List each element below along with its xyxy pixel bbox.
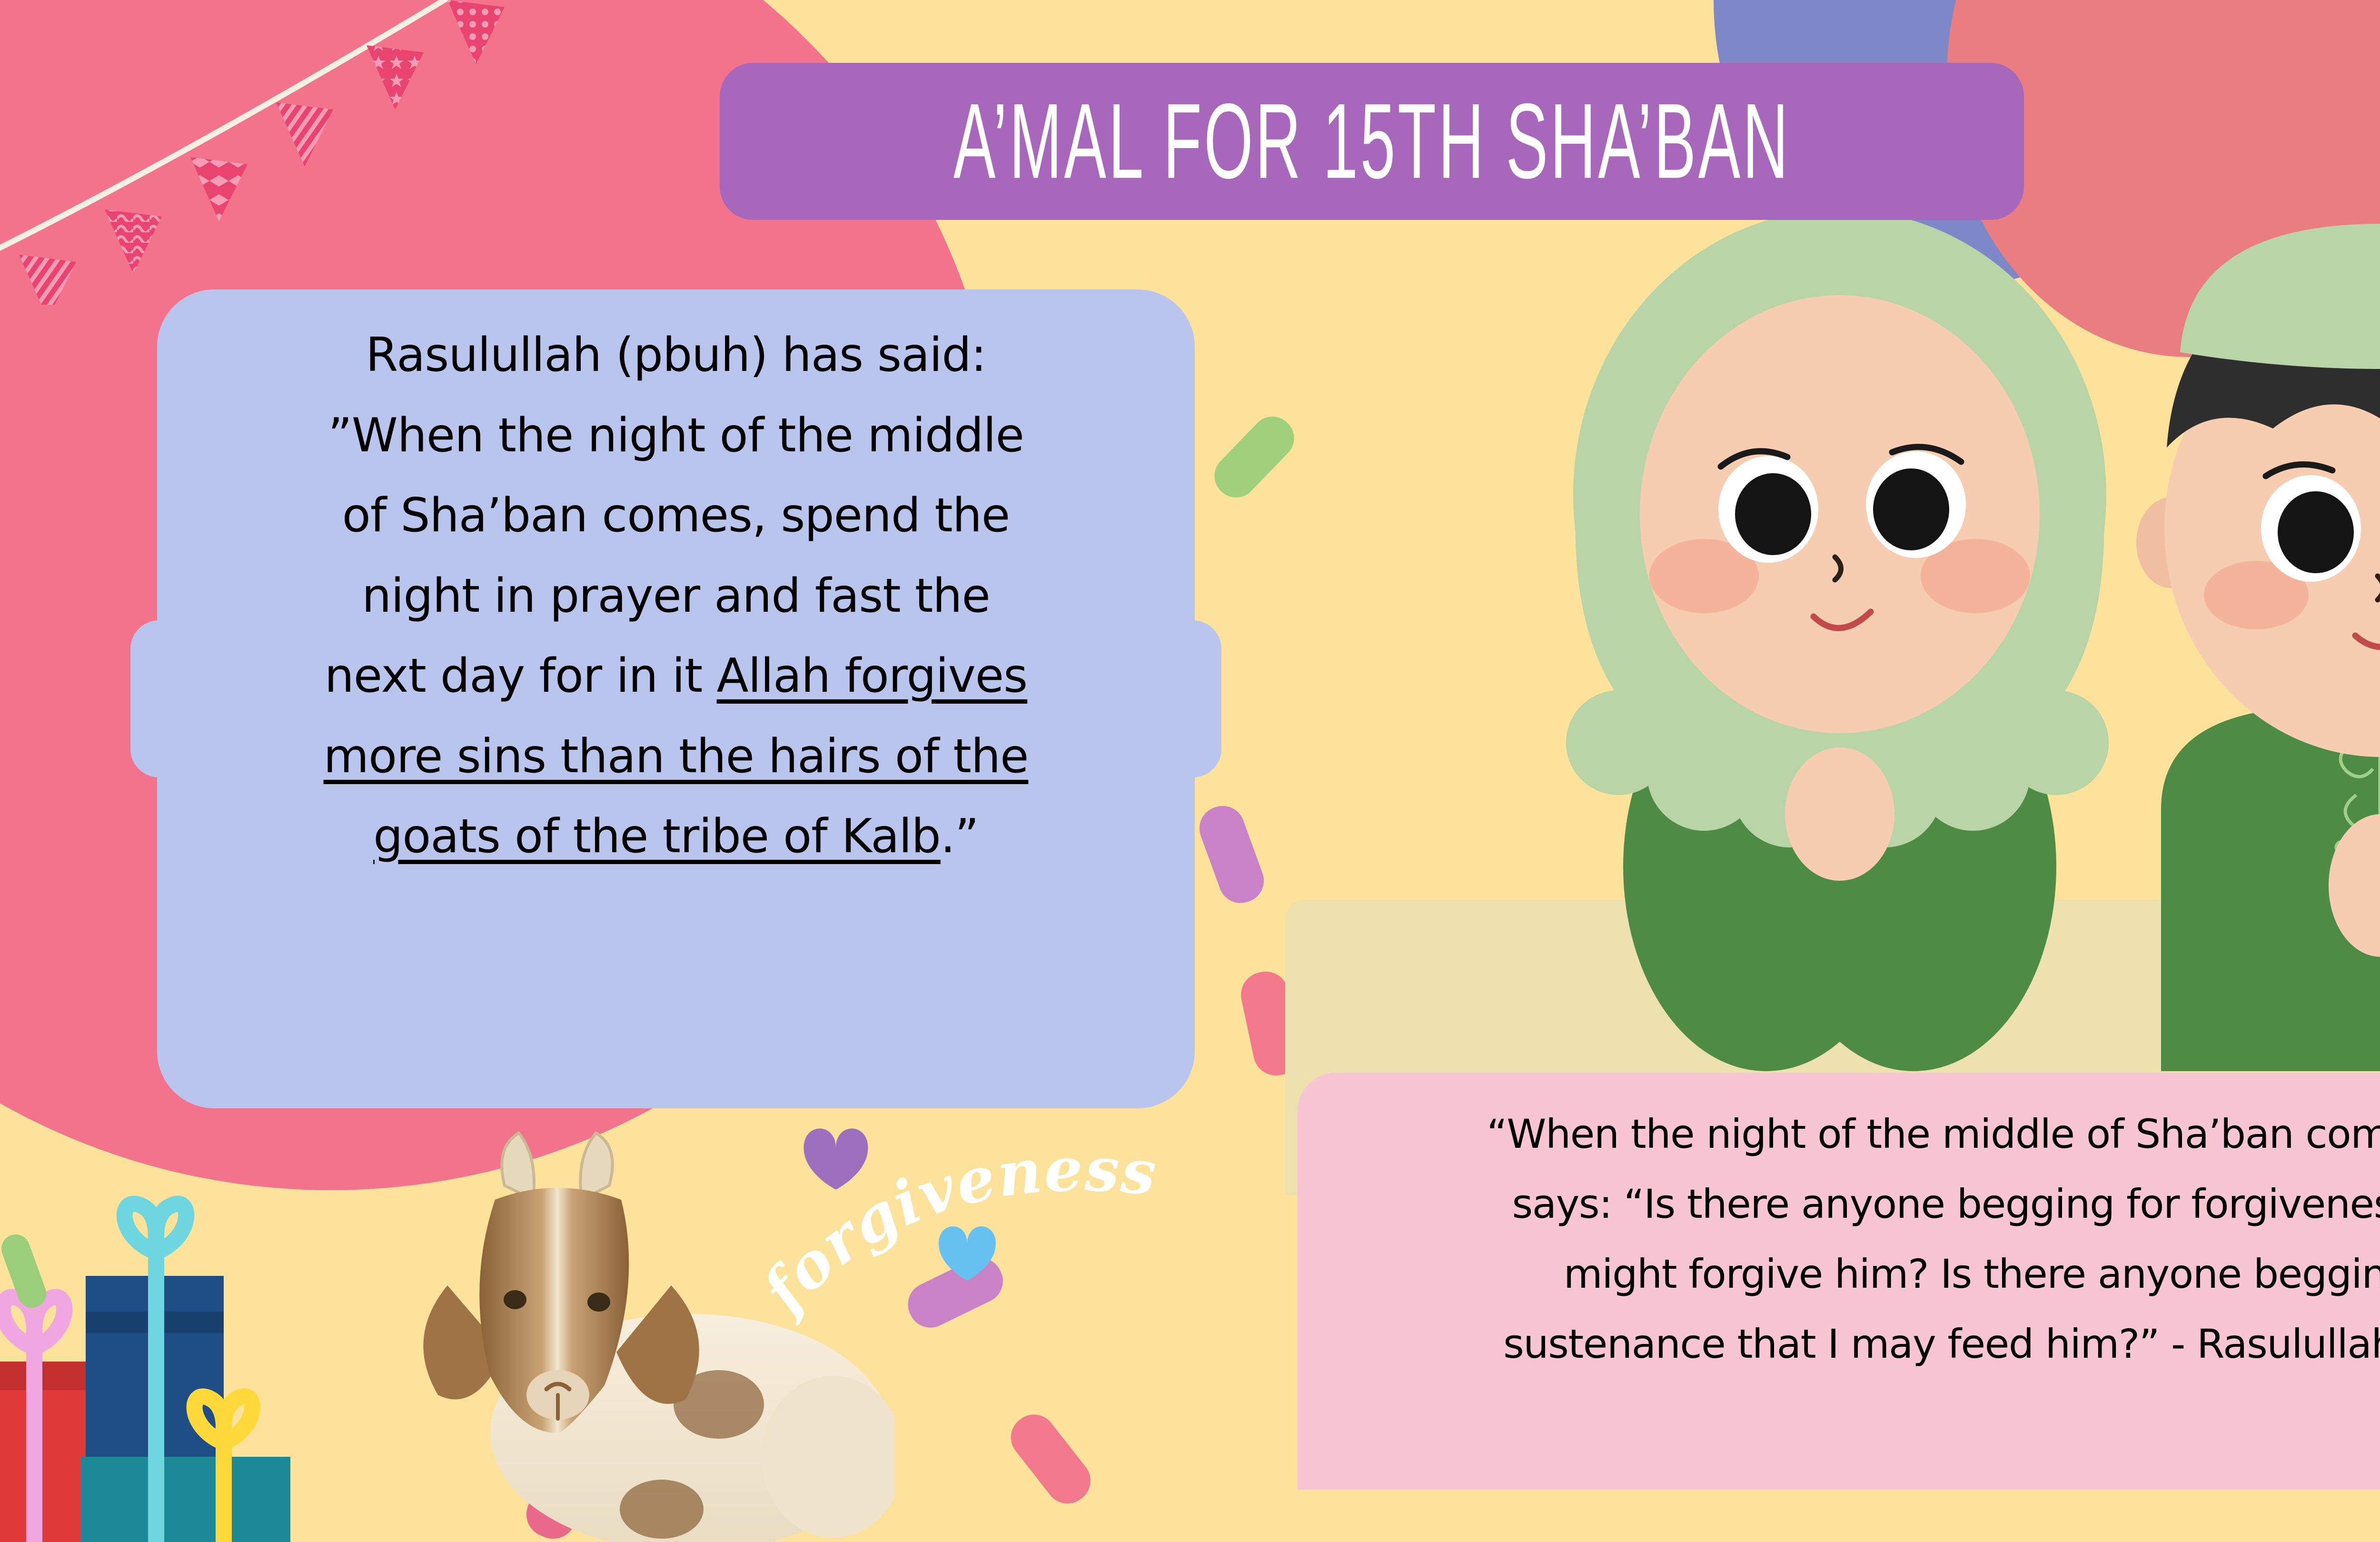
quote-text: “When the night of the middle of Sha’ban… <box>1332 1099 2380 1379</box>
hadith-text: Rasulullah (pbuh) has said: ”When the ni… <box>192 315 1160 877</box>
muslim-boy-character <box>2136 224 2380 1071</box>
hadith-card: Rasulullah (pbuh) has said: ”When the ni… <box>157 289 1195 1108</box>
hadith-line: more sins than the hairs of the <box>192 716 1160 797</box>
hadith-line-plain: .” <box>941 809 979 864</box>
hadith-line: next day for in it Allah forgives <box>192 636 1160 716</box>
muslim-girl-character <box>1566 209 2109 1071</box>
hadith-line: of Sha’ban comes, spend the <box>192 476 1160 556</box>
hadith-line: goats of the tribe of Kalb.” <box>192 796 1160 877</box>
hadith-line: ”When the night of the middle <box>192 396 1160 476</box>
hadith-line-plain: next day for in it <box>325 649 717 703</box>
title-banner: A’MAL FOR 15TH SHA’BAN <box>720 63 2024 220</box>
hadith-line: night in prayer and fast the <box>192 556 1160 637</box>
hadith-emphasis: more sins than the hairs of the <box>324 729 1029 784</box>
hadith-emphasis: Allah forgives <box>717 649 1028 703</box>
children-illustration <box>1371 181 2380 1071</box>
quote-card: “When the night of the middle of Sha’ban… <box>1298 1073 2380 1490</box>
quote-line: “When the night of the middle of Sha’ban… <box>1332 1099 2380 1169</box>
hadith-emphasis: goats of the tribe of Kalb <box>373 809 941 864</box>
page-title: A’MAL FOR 15TH SHA’BAN <box>953 88 1790 195</box>
hadith-line: Rasulullah (pbuh) has said: <box>192 315 1160 396</box>
quote-line: might forgive him? Is there anyone beggi… <box>1332 1239 2380 1309</box>
bunting-decoration <box>0 0 571 305</box>
quote-line: sustenance that I may feed him?” - Rasul… <box>1332 1309 2380 1379</box>
goat-illustration <box>376 1128 895 1542</box>
poster-canvas: A’MAL FOR 15TH SHA’BAN Rasulullah (pbuh)… <box>0 0 2380 1542</box>
quote-line: says: “Is there anyone begging for forgi… <box>1332 1169 2380 1239</box>
